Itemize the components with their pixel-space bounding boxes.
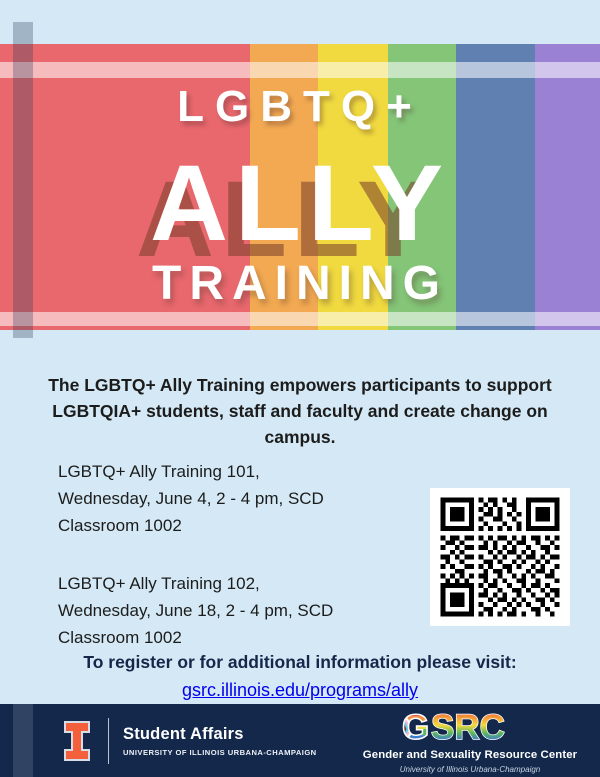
- student-affairs-title: Student Affairs: [123, 725, 317, 744]
- session-item: LGBTQ+ Ally Training 102, Wednesday, Jun…: [58, 570, 418, 651]
- student-affairs-subtitle: UNIVERSITY OF ILLINOIS URBANA-CHAMPAIGN: [123, 748, 317, 757]
- svg-text:G: G: [402, 710, 429, 747]
- headline-training: TRAINING: [0, 256, 600, 311]
- session-title: LGBTQ+ Ally Training 101,: [58, 458, 418, 485]
- gsrc-wordmark-icon: G G: [402, 710, 538, 748]
- session-item: LGBTQ+ Ally Training 101, Wednesday, Jun…: [58, 458, 418, 539]
- poster-root: LGBTQ+ ALLY ALLY TRAINING The LGBTQ+ All…: [0, 0, 600, 777]
- register-prompt: To register or for additional informatio…: [30, 650, 570, 675]
- qr-code[interactable]: [430, 488, 570, 626]
- footer-bar: Student Affairs UNIVERSITY OF ILLINOIS U…: [0, 704, 600, 777]
- student-affairs-logo: Student Affairs UNIVERSITY OF ILLINOIS U…: [62, 717, 317, 765]
- qr-code-icon: [430, 488, 570, 626]
- session-list: LGBTQ+ Ally Training 101, Wednesday, Jun…: [58, 458, 418, 651]
- headline-ally: ALLY ALLY: [150, 149, 450, 257]
- headline-ally-text: ALLY: [150, 142, 450, 263]
- footer-vertical-bar: [13, 704, 33, 777]
- session-title: LGBTQ+ Ally Training 102,: [58, 570, 418, 597]
- student-affairs-text: Student Affairs UNIVERSITY OF ILLINOIS U…: [123, 725, 317, 757]
- block-i-icon: [62, 720, 92, 762]
- session-location: Classroom 1002: [58, 512, 418, 539]
- svg-text:SRC: SRC: [431, 710, 505, 747]
- rainbow-banner: LGBTQ+ ALLY ALLY TRAINING: [0, 44, 600, 330]
- gsrc-name: Gender and Sexuality Resource Center: [340, 749, 600, 761]
- gsrc-logo: G G: [340, 710, 600, 774]
- session-datetime: Wednesday, June 4, 2 - 4 pm, SCD: [58, 485, 418, 512]
- logo-divider: [108, 718, 109, 764]
- register-url-link[interactable]: gsrc.illinois.edu/programs/ally: [182, 677, 418, 703]
- intro-paragraph: The LGBTQ+ Ally Training empowers partic…: [34, 372, 566, 450]
- register-block: To register or for additional informatio…: [30, 650, 570, 703]
- headline-group: LGBTQ+ ALLY ALLY TRAINING: [0, 44, 600, 330]
- headline-lgbtq: LGBTQ+: [0, 82, 600, 132]
- gsrc-subtitle: University of Illinois Urbana-Champaign: [340, 765, 600, 774]
- session-datetime: Wednesday, June 18, 2 - 4 pm, SCD: [58, 597, 418, 624]
- session-location: Classroom 1002: [58, 624, 418, 651]
- headline-ally-wrap: ALLY ALLY: [0, 149, 600, 259]
